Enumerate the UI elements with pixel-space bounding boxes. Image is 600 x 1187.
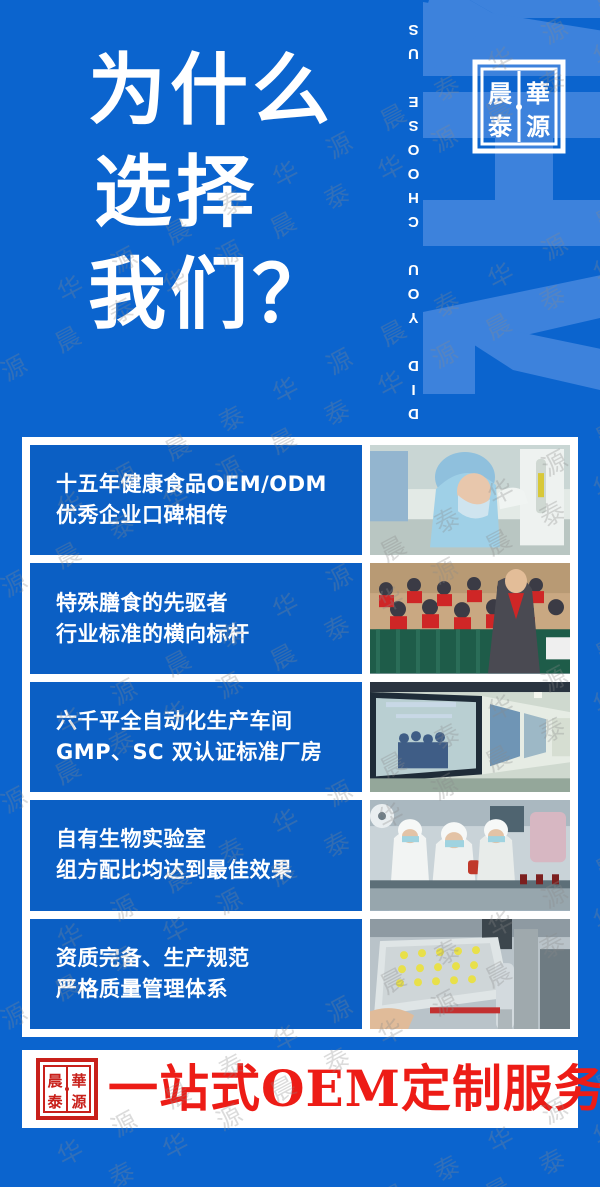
conference-audience-photo bbox=[370, 563, 570, 673]
feature-line: 优秀企业口碑相传 bbox=[56, 500, 362, 531]
feature-line: 资质完备、生产规范 bbox=[56, 943, 362, 974]
feature-line: 六千平全自动化生产车间 bbox=[56, 706, 362, 737]
vertical-tagline: WHY DID YOU CHOOSE US bbox=[396, 14, 430, 404]
page-title-line-3: 我们？ bbox=[88, 244, 388, 346]
svg-text:泰: 泰 bbox=[46, 1093, 63, 1111]
feature-line: 严格质量管理体系 bbox=[56, 974, 362, 1005]
svg-text:晨: 晨 bbox=[47, 1072, 63, 1090]
banner-text: 一站式OEM定制服务 bbox=[108, 1061, 600, 1117]
feature-line: 自有生物实验室 bbox=[56, 824, 362, 855]
feature-card[interactable]: 自有生物实验室 组方配比均达到最佳效果 bbox=[30, 800, 570, 910]
page-title-line-1: 为什么 bbox=[88, 40, 388, 142]
feature-line: 行业标准的横向标杆 bbox=[56, 619, 362, 650]
company-seal-red-icon: 晨 華 泰 源 bbox=[36, 1058, 98, 1120]
svg-text:源: 源 bbox=[71, 1093, 86, 1111]
page-title: 为什么 选择 我们？ bbox=[88, 40, 388, 346]
feature-line: 十五年健康食品OEM/ODM bbox=[56, 469, 362, 500]
svg-text:華: 華 bbox=[71, 1072, 86, 1090]
feature-cards-list: 十五年健康食品OEM/ODM 优秀企业口碑相传 bbox=[30, 445, 570, 1029]
svg-text:晨: 晨 bbox=[488, 79, 513, 108]
svg-text:華: 華 bbox=[526, 79, 550, 108]
poster-root: 为什么 选择 我们？ WHY DID YOU CHOOSE US 晨 華 泰 bbox=[0, 0, 600, 1187]
production-line-workers-photo bbox=[370, 800, 570, 910]
feature-card[interactable]: 特殊膳食的先驱者 行业标准的横向标杆 bbox=[30, 563, 570, 673]
cleanroom-corridor-photo bbox=[370, 682, 570, 792]
feature-card[interactable]: 六千平全自动化生产车间 GMP、SC 双认证标准厂房 bbox=[30, 682, 570, 792]
feature-card-text: 十五年健康食品OEM/ODM 优秀企业口碑相传 bbox=[30, 445, 362, 555]
feature-card[interactable]: 十五年健康食品OEM/ODM 优秀企业口碑相传 bbox=[30, 445, 570, 555]
company-seal-white-icon: 晨 華 泰 源 bbox=[468, 55, 570, 158]
feature-card-text: 自有生物实验室 组方配比均达到最佳效果 bbox=[30, 800, 362, 910]
feature-card-text: 特殊膳食的先驱者 行业标准的横向标杆 bbox=[30, 563, 362, 673]
feature-card-text: 六千平全自动化生产车间 GMP、SC 双认证标准厂房 bbox=[30, 682, 362, 792]
feature-line: GMP、SC 双认证标准厂房 bbox=[56, 737, 362, 768]
header: 为什么 选择 我们？ WHY DID YOU CHOOSE US 晨 華 泰 bbox=[0, 0, 600, 437]
feature-card[interactable]: 资质完备、生产规范 严格质量管理体系 bbox=[30, 919, 570, 1029]
feature-cards-frame: 十五年健康食品OEM/ODM 优秀企业口碑相传 bbox=[22, 437, 578, 1037]
feature-line: 组方配比均达到最佳效果 bbox=[56, 855, 362, 886]
lab-technician-photo bbox=[370, 445, 570, 555]
feature-line: 特殊膳食的先驱者 bbox=[56, 588, 362, 619]
bottom-banner: 晨 華 泰 源 一站式OEM定制服务 bbox=[22, 1050, 578, 1128]
page-title-line-2: 选择 bbox=[88, 142, 388, 244]
feature-card-text: 资质完备、生产规范 严格质量管理体系 bbox=[30, 919, 362, 1029]
svg-text:源: 源 bbox=[526, 112, 550, 141]
tablet-packaging-machine-photo bbox=[370, 919, 570, 1029]
svg-text:泰: 泰 bbox=[488, 112, 513, 141]
